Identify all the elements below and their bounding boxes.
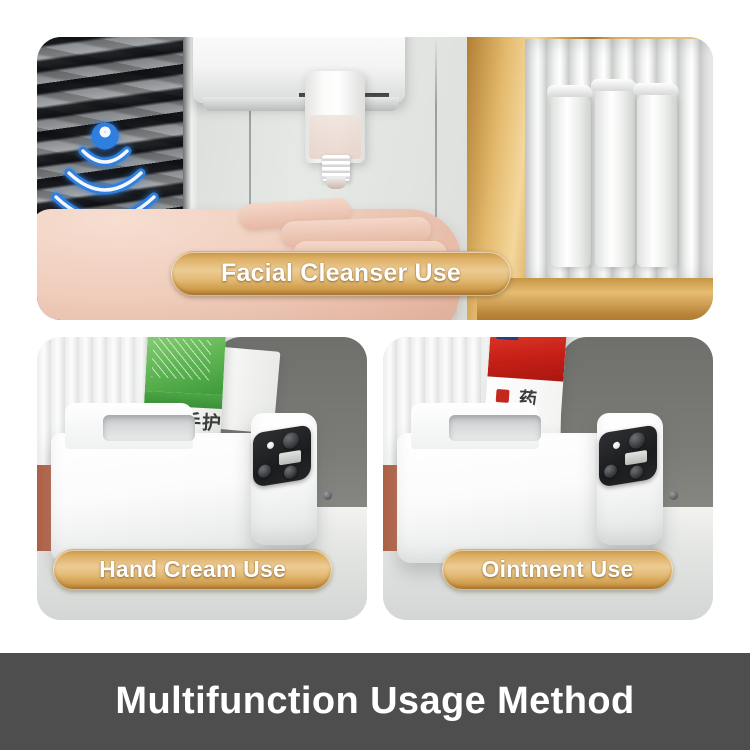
mode-button[interactable] xyxy=(604,464,617,479)
fluted-glass-door xyxy=(525,39,713,284)
label-text: Hand Cream Use xyxy=(99,556,286,583)
label-hand-cream-use: Hand Cream Use xyxy=(53,549,332,590)
tube-insert-slot xyxy=(103,415,195,441)
mode-button[interactable] xyxy=(258,464,271,479)
marketing-collage: 护手霜 xyxy=(0,0,750,750)
dispenser-nozzle xyxy=(326,177,346,189)
status-led xyxy=(613,441,620,449)
pump-head xyxy=(591,79,637,91)
pump-bottle xyxy=(551,97,591,267)
dose-button[interactable] xyxy=(284,465,297,480)
control-panel[interactable] xyxy=(253,424,311,487)
tube-green-artwork xyxy=(145,337,226,395)
dispenser-lip xyxy=(203,97,399,111)
tube-red-artwork xyxy=(487,337,567,382)
label-ointment-use: Ointment Use xyxy=(442,549,673,590)
lcd-window xyxy=(625,450,647,465)
status-led xyxy=(267,441,274,449)
tube-blue-tab xyxy=(496,337,519,340)
pump-bottle xyxy=(595,91,635,267)
label-text: Ointment Use xyxy=(482,556,634,583)
tube-red-seal xyxy=(496,389,510,403)
pump-bottle xyxy=(637,95,677,267)
banner-title: Multifunction Usage Method xyxy=(115,680,634,723)
cleanser-bottle xyxy=(305,71,365,163)
ir-sensor-icon xyxy=(323,491,332,500)
cabinet-base-trim xyxy=(477,278,713,320)
pump-head xyxy=(633,83,679,95)
ir-sensor-icon xyxy=(669,491,678,500)
power-button[interactable] xyxy=(283,431,299,450)
bottom-banner: Multifunction Usage Method xyxy=(0,653,750,750)
tube-insert-slot xyxy=(449,415,541,441)
label-text: Facial Cleanser Use xyxy=(221,259,461,288)
control-panel[interactable] xyxy=(599,424,657,487)
dose-button[interactable] xyxy=(630,465,643,480)
pump-head xyxy=(547,85,593,97)
lcd-window xyxy=(279,450,301,465)
power-button[interactable] xyxy=(629,431,645,450)
bottle-contents xyxy=(309,115,361,159)
label-facial-cleanser-use: Facial Cleanser Use xyxy=(171,251,511,296)
